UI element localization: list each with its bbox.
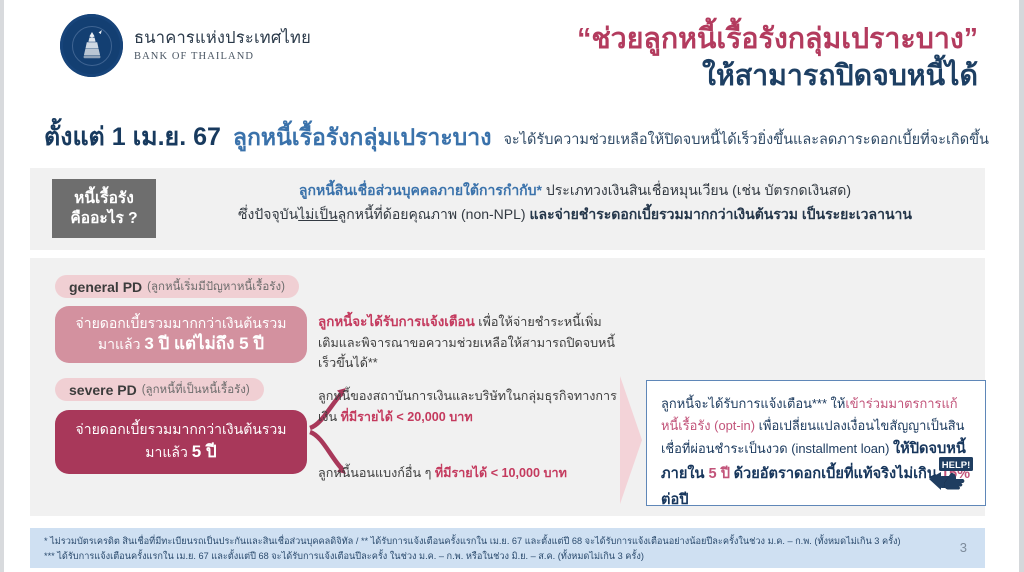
title-line-1: “ช่วยลูกหนี้เรื้อรังกลุ่มเปราะบาง” (577, 22, 978, 57)
callout-seg-8: ต่อปี (661, 492, 689, 508)
footnote-line-2: *** ได้รับการแจ้งเตือนครั้งแรกใน เม.ย. 6… (44, 549, 644, 563)
slide-title: “ช่วยลูกหนี้เรื้อรังกลุ่มเปราะบาง” ให้สา… (577, 22, 978, 94)
severe-pd-duration-pre: มาแล้ว (145, 444, 191, 460)
general-pd-label-th: (ลูกหนี้เริ่มมีปัญหาหนี้เรื้อรัง) (147, 278, 285, 296)
chevron-right-icon (618, 376, 644, 504)
severe-pd-target-1: ลูกหนี้ของสถาบันการเงินและบริษัทในกลุ่มธ… (318, 386, 618, 428)
severe-pd-label-th: (ลูกหนี้ที่เป็นหนี้เรื้อรัง) (142, 381, 250, 399)
severe-pd-criteria-box: จ่ายดอกเบี้ยรวมมากกว่าเงินต้นรวม มาแล้ว … (55, 410, 307, 474)
definition-line1-bold: ลูกหนี้สินเชื่อส่วนบุคคลภายใต้การกำกับ* (299, 182, 542, 198)
slide-left-edge (0, 0, 4, 572)
opt-in-callout: ลูกหนี้จะได้รับการแจ้งเตือน*** ให้เข้าร่… (646, 380, 986, 506)
definition-line2-b: ลูกหนี้ที่ด้อยคุณภาพ (non-NPL) (338, 206, 530, 222)
general-pd-pill: general PD (ลูกหนี้เริ่มมีปัญหาหนี้เรื้อ… (55, 275, 299, 298)
general-pd-action-highlight: ลูกหนี้จะได้รับการแจ้งเตือน (318, 314, 475, 329)
severe-pd-pill: severe PD (ลูกหนี้ที่เป็นหนี้เรื้อรัง) (55, 378, 264, 401)
target-group-label: ลูกหนี้เรื้อรังกลุ่มเปราะบาง (233, 120, 492, 156)
general-pd-criteria-line2: มาแล้ว 3 ปี แต่ไม่ถึง 5 ปี (98, 333, 264, 355)
effective-date-row: ตั้งแต่ 1 เม.ย. 67 ลูกหนี้เรื้อรังกลุ่มเ… (44, 117, 989, 157)
bank-of-thailand-seal-icon (60, 14, 123, 77)
definition-line2-a: ซึ่งปัจจุบัน (238, 206, 298, 222)
brand-name-english: BANK OF THAILAND (134, 51, 311, 62)
brand-lockup: ธนาคารแห่งประเทศไทย BANK OF THAILAND (60, 14, 311, 77)
page-number: 3 (960, 540, 967, 555)
severe-pd-target-2-base: ลูกหนี้นอนแบงก์อื่น ๆ (318, 466, 435, 480)
general-pd-criteria-box: จ่ายดอกเบี้ยรวมมากกว่าเงินต้นรวม มาแล้ว … (55, 306, 307, 363)
severe-pd-target-2-text: ลูกหนี้นอนแบงก์อื่น ๆ ที่มีรายได้ < 10,0… (318, 463, 567, 484)
opt-in-callout-text: ลูกหนี้จะได้รับการแจ้งเตือน*** ให้เข้าร่… (661, 393, 971, 513)
severe-pd-criteria-line1: จ่ายดอกเบี้ยรวมมากกว่าเงินต้นรวม (76, 420, 287, 440)
severe-pd-criteria-line2: มาแล้ว 5 ปี (145, 440, 216, 464)
definition-line2-bold: และจ่ายชำระดอกเบี้ยรวมมากกว่าเงินต้นรวม … (529, 206, 911, 222)
slide-right-edge (1019, 0, 1024, 572)
definition-tag-line2: คืออะไร ? (70, 209, 137, 229)
definition-tag-line1: หนี้เรื้อรัง (74, 189, 134, 209)
definition-line-2: ซึ่งปัจจุบันไม่เป็นลูกหนี้ที่ด้อยคุณภาพ … (185, 204, 965, 226)
definition-tag: หนี้เรื้อรัง คืออะไร ? (52, 179, 156, 238)
definition-line2-underline: ไม่เป็น (298, 206, 338, 222)
brand-text: ธนาคารแห่งประเทศไทย BANK OF THAILAND (134, 29, 311, 62)
slide-root: ธนาคารแห่งประเทศไทย BANK OF THAILAND “ช่… (0, 0, 1024, 572)
severe-pd-target-2: ลูกหนี้นอนแบงก์อื่น ๆ ที่มีรายได้ < 10,0… (318, 463, 618, 484)
severe-pd-target-1-text: ลูกหนี้ของสถาบันการเงินและบริษัทในกลุ่มธ… (318, 386, 618, 428)
severe-pd-target-2-income: ที่มีรายได้ < 10,000 บาท (435, 466, 567, 480)
title-line-2: ให้สามารถปิดจบหนี้ได้ (577, 59, 978, 94)
brand-name-thai: ธนาคารแห่งประเทศไทย (134, 29, 311, 48)
footnote-band: * ไม่รวมบัตรเครดิต สินเชื่อที่มีทะเบียนร… (30, 528, 985, 568)
callout-seg-6: ด้วยอัตราดอกเบี้ยที่แท้จริงไม่เกิน (734, 466, 941, 482)
definition-line-1: ลูกหนี้สินเชื่อส่วนบุคคลภายใต้การกำกับ* … (185, 180, 965, 202)
general-pd-duration: 3 ปี แต่ไม่ถึง 5 ปี (144, 334, 264, 353)
general-pd-criteria-line1: จ่ายดอกเบี้ยรวมมากกว่าเงินต้นรวม (76, 314, 287, 332)
definition-text: ลูกหนี้สินเชื่อส่วนบุคคลภายใต้การกำกับ* … (185, 180, 965, 225)
help-hand-pointer-icon: HELP! (929, 457, 975, 497)
severe-pd-duration: 5 ปี (192, 442, 217, 461)
svg-text:HELP!: HELP! (942, 460, 971, 471)
benefit-description: จะได้รับความช่วยเหลือให้ปิดจบหนี้ได้เร็ว… (503, 128, 989, 151)
stages-panel: general PD (ลูกหนี้เริ่มมีปัญหาหนี้เรื้อ… (30, 258, 985, 516)
effective-date: ตั้งแต่ 1 เม.ย. 67 (44, 117, 221, 157)
definition-panel: หนี้เรื้อรัง คืออะไร ? ลูกหนี้สินเชื่อส่… (30, 168, 985, 250)
callout-seg-5: 5 ปี (709, 466, 730, 482)
definition-line1-rest: ประเภทวงเงินสินเชื่อหมุนเวียน (เช่น บัตร… (542, 182, 851, 198)
footnote-line-1: * ไม่รวมบัตรเครดิต สินเชื่อที่มีทะเบียนร… (44, 534, 901, 548)
general-pd-duration-pre: มาแล้ว (98, 336, 144, 352)
callout-seg-1: ลูกหนี้จะได้รับการแจ้งเตือน*** ให้ (661, 396, 845, 411)
severe-pd-label-en: severe PD (69, 382, 137, 398)
severe-pd-target-1-income: ที่มีรายได้ < 20,000 บาท (341, 410, 473, 424)
general-pd-label-en: general PD (69, 279, 142, 295)
general-pd-action-text: ลูกหนี้จะได้รับการแจ้งเตือน เพื่อให้จ่าย… (318, 311, 618, 373)
